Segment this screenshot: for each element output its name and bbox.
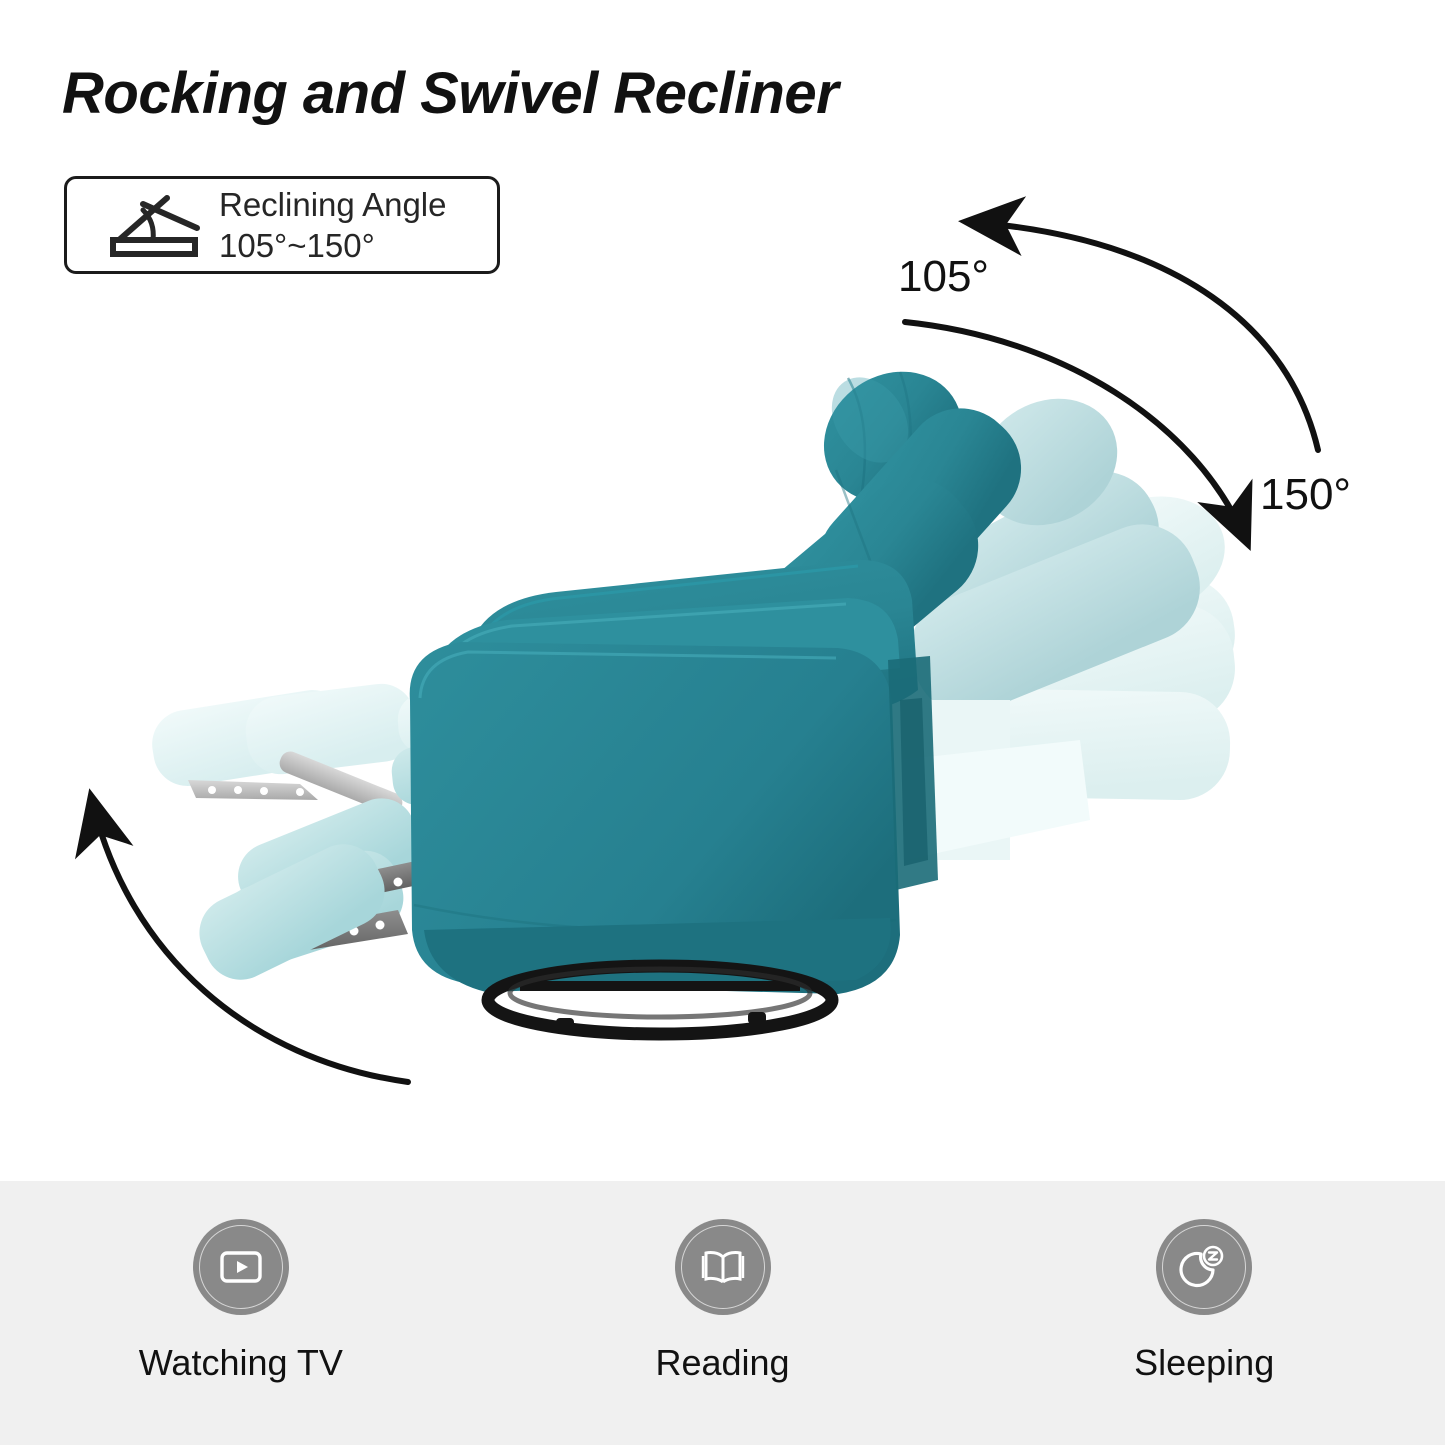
open-book-icon: [696, 1240, 750, 1294]
feature-label-sleeping: Sleeping: [1134, 1342, 1274, 1384]
recline-mechanism: [888, 656, 938, 890]
feature-label-watching-tv: Watching TV: [139, 1342, 343, 1384]
feature-reading: Reading: [482, 1181, 964, 1445]
ghost-footrest-extended: [147, 680, 420, 818]
moon-zzz-icon: [1177, 1240, 1231, 1294]
feature-watching-tv: Watching TV: [0, 1181, 482, 1445]
product-infographic: Rocking and Swivel Recliner Reclining An…: [0, 0, 1445, 1445]
watching-tv-circle: [193, 1219, 289, 1315]
tv-play-icon: [214, 1240, 268, 1294]
use-case-row: Watching TV Reading: [0, 1181, 1445, 1445]
feature-sleeping: Sleeping: [963, 1181, 1445, 1445]
recliner-illustration: [0, 0, 1445, 1180]
sleeping-circle: [1156, 1219, 1252, 1315]
feature-label-reading: Reading: [655, 1342, 789, 1384]
use-case-band: Watching TV Reading: [0, 1181, 1445, 1445]
reading-circle: [675, 1219, 771, 1315]
